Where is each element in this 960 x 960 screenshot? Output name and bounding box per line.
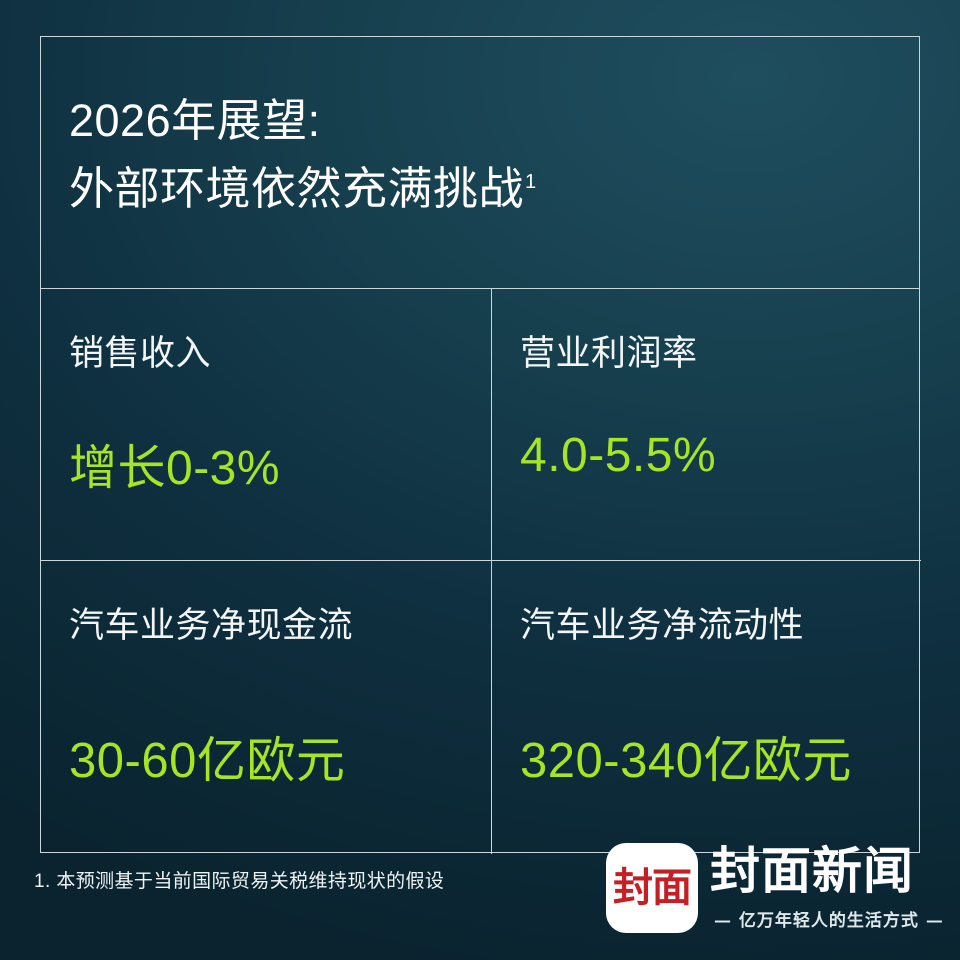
outlook-table-frame: 2026年展望: 外部环境依然充满挑战1 销售收入 增长0-3% 营业利润率 4… — [40, 36, 920, 853]
title-line-2-text: 外部环境依然充满挑战 — [69, 163, 524, 214]
metric-label: 汽车业务净流动性 — [520, 597, 921, 648]
metrics-grid: 销售收入 增长0-3% 营业利润率 4.0-5.5% 汽车业务净现金流 30-6… — [41, 289, 919, 854]
brand-mark-icon: 封面 — [606, 843, 698, 933]
brand-logo: 封面 封面新闻 — 亿万年轻人的生活方式 — — [606, 840, 936, 940]
metric-label: 销售收入 — [69, 325, 491, 376]
metric-label: 营业利润率 — [520, 325, 921, 376]
metric-cell-revenue: 销售收入 增长0-3% — [41, 289, 492, 561]
metric-value: 增长0-3% — [69, 428, 491, 498]
metric-value: 30-60亿欧元 — [69, 721, 491, 792]
brand-name: 封面新闻 — [710, 844, 914, 898]
metric-value: 320-340亿欧元 — [520, 721, 921, 792]
title-zone: 2026年展望: 外部环境依然充满挑战1 — [41, 37, 919, 289]
slide-canvas: 2026年展望: 外部环境依然充满挑战1 销售收入 增长0-3% 营业利润率 4… — [0, 0, 960, 960]
metric-cell-automotive-net-liquidity: 汽车业务净流动性 320-340亿欧元 — [492, 561, 921, 854]
title-line-2: 外部环境依然充满挑战1 — [69, 155, 537, 223]
title-footnote-marker: 1 — [525, 171, 537, 193]
metric-value: 4.0-5.5% — [520, 428, 921, 483]
metric-label: 汽车业务净现金流 — [69, 597, 491, 648]
metric-cell-operating-margin: 营业利润率 4.0-5.5% — [492, 289, 921, 561]
page-title: 2026年展望: 外部环境依然充满挑战1 — [69, 87, 537, 224]
brand-mark-label: 封面 — [613, 868, 691, 908]
footnote-text: 1. 本预测基于当前国际贸易关税维持现状的假设 — [34, 866, 444, 893]
title-line-1: 2026年展望: — [69, 87, 537, 155]
brand-tagline: — 亿万年轻人的生活方式 — — [714, 906, 944, 931]
metric-cell-automotive-net-cash-flow: 汽车业务净现金流 30-60亿欧元 — [41, 561, 492, 854]
